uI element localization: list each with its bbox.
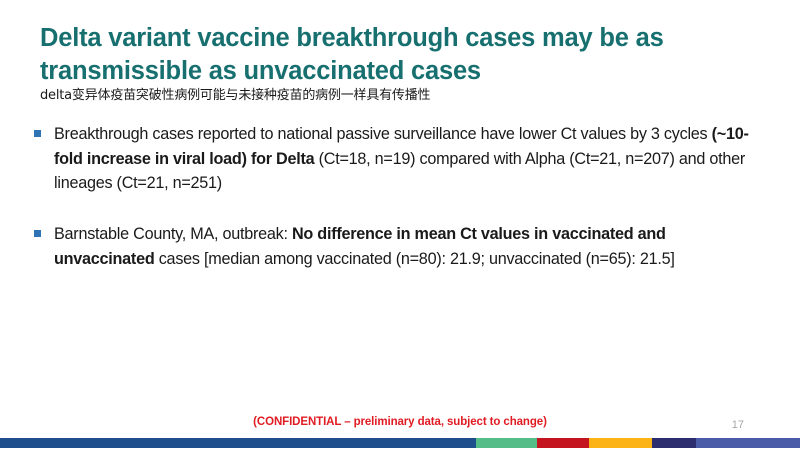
segment-red [537, 438, 589, 448]
square-bullet-icon [34, 130, 41, 137]
body-content: Breakthrough cases reported to national … [34, 122, 764, 297]
segment-green [476, 438, 537, 448]
page-number: 17 [732, 419, 744, 431]
bullet-text-2: Barnstable County, MA, outbreak: No diff… [54, 222, 764, 271]
list-item: Breakthrough cases reported to national … [34, 122, 764, 196]
segment-dark-blue [0, 438, 476, 448]
segment-periwinkle [696, 438, 800, 448]
segment-navy [652, 438, 696, 448]
list-item: Barnstable County, MA, outbreak: No diff… [34, 222, 764, 271]
bullet-2-segment-plain-2: cases [median among vaccinated (n=80): 2… [154, 250, 674, 268]
segment-orange [589, 438, 652, 448]
bullet-1-segment-plain-1: Breakthrough cases reported to national … [54, 125, 712, 143]
page-title: Delta variant vaccine breakthrough cases… [40, 22, 755, 87]
square-bullet-icon [34, 230, 41, 237]
page-subtitle-chinese: delta变异体疫苗突破性病例可能与未接种疫苗的病例一样具有传播性 [40, 88, 755, 104]
bullet-text-1: Breakthrough cases reported to national … [54, 122, 764, 196]
bottom-color-bar [0, 438, 800, 448]
slide-canvas: Delta variant vaccine breakthrough cases… [0, 0, 800, 450]
confidential-footer-note: (CONFIDENTIAL – preliminary data, subjec… [0, 416, 800, 428]
title-block: Delta variant vaccine breakthrough cases… [40, 22, 755, 104]
bullet-2-segment-plain-1: Barnstable County, MA, outbreak: [54, 225, 292, 243]
